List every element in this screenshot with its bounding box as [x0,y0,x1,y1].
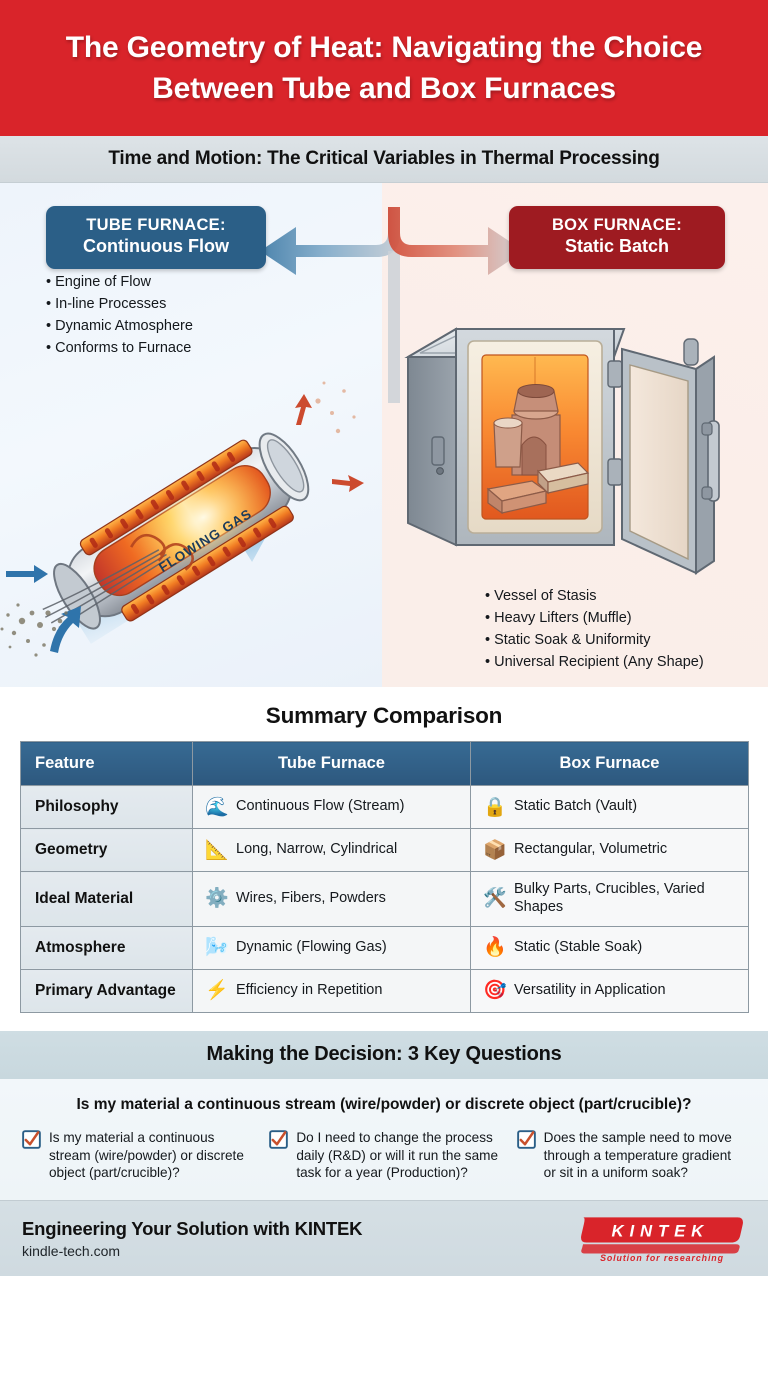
row-box-value: 🔒 Static Batch (Vault) [471,786,749,829]
cell-text: Static Batch (Vault) [514,798,637,816]
powder-particles [1,603,68,656]
decision-lead: Is my material a continuous stream (wire… [22,1096,746,1114]
hero-banner: The Geometry of Heat: Navigating the Cho… [0,0,768,136]
list-item: In-line Processes [46,293,193,315]
list-item: Dynamic Atmosphere [46,315,193,337]
subheader-text: Time and Motion: The Critical Variables … [108,148,659,170]
summary-title: Summary Comparison [20,703,748,729]
row-feature-label: Primary Advantage [21,969,193,1012]
summary-section: Summary Comparison Feature Tube Furnace … [0,687,768,1013]
lock-icon: 🔒 [483,798,505,817]
cell-text: Dynamic (Flowing Gas) [236,939,387,957]
ruler-icon: 📐 [205,841,227,860]
box-furnace-illustration [396,295,744,585]
subheader-band: Time and Motion: The Critical Variables … [0,136,768,183]
cell-text: Efficiency in Repetition [236,982,382,1000]
tube-pill-line1: TUBE FURNACE: [60,216,252,235]
cell-text: Long, Narrow, Cylindrical [236,841,397,859]
row-tube-value: 📐 Long, Narrow, Cylindrical [193,829,471,872]
logo-tagline: Solution for researching [600,1253,724,1263]
tube-furnace-illustration [0,321,382,681]
flowing-gas-label: FLOWING GAS [156,506,254,575]
cell-text: Bulky Parts, Crucibles, Varied Shapes [514,881,738,917]
flowing-gas-arrow [70,488,295,657]
row-tube-value: 🌬️ Dynamic (Flowing Gas) [193,926,471,969]
list-item: Universal Recipient (Any Shape) [485,651,704,673]
decision-question-3: Does the sample need to move through a t… [517,1129,746,1182]
question-text: Does the sample need to move through a t… [544,1129,746,1182]
wave-icon: 🌊 [205,798,227,817]
package-icon: 📦 [483,841,505,860]
decision-band: Making the Decision: 3 Key Questions [0,1031,768,1079]
row-tube-value: ⚡ Efficiency in Repetition [193,969,471,1012]
question-text: Do I need to change the process daily (R… [296,1129,498,1182]
row-box-value: 🛠️ Bulky Parts, Crucibles, Varied Shapes [471,872,749,927]
table-header-row: Feature Tube Furnace Box Furnace [21,742,749,786]
footer-tagline: Engineering Your Solution with KINTEK [22,1218,362,1240]
footer-text-group: Engineering Your Solution with KINTEK ki… [22,1218,362,1259]
column-header-tube: Tube Furnace [193,742,471,786]
wind-icon: 🌬️ [205,938,227,957]
gear-icon: ⚙️ [205,889,227,908]
row-feature-label: Geometry [21,829,193,872]
box-furnace-panel: BOX FURNACE: Static Batch [382,183,768,687]
list-item: Heavy Lifters (Muffle) [485,607,704,629]
logo-wordmark: KINTEK [611,1222,709,1241]
kintek-logo: KINTEK Solution for researching [578,1214,746,1263]
page-title: The Geometry of Heat: Navigating the Cho… [22,27,746,110]
box-pill-line2: Static Batch [523,236,711,257]
decision-question-1: Is my material a continuous stream (wire… [22,1129,251,1182]
list-item: Conforms to Furnace [46,337,193,359]
table-row: Ideal Material ⚙️ Wires, Fibers, Powders… [21,872,749,927]
row-box-value: 🎯 Versatility in Application [471,969,749,1012]
table-row: Atmosphere 🌬️ Dynamic (Flowing Gas) 🔥 St… [21,926,749,969]
cell-text: Static (Stable Soak) [514,939,642,957]
list-item: Vessel of Stasis [485,585,704,607]
list-item: Static Soak & Uniformity [485,629,704,651]
decision-question-2: Do I need to change the process daily (R… [269,1129,498,1182]
target-icon: 🎯 [483,981,505,1000]
row-feature-label: Ideal Material [21,872,193,927]
checkbox-checked-icon[interactable] [22,1130,41,1149]
question-text: Is my material a continuous stream (wire… [49,1129,251,1182]
row-tube-value: ⚙️ Wires, Fibers, Powders [193,872,471,927]
list-item: Engine of Flow [46,271,193,293]
checkbox-checked-icon[interactable] [517,1130,536,1149]
tube-furnace-panel: TUBE FURNACE: Continuous Flow Engine of … [0,183,382,687]
column-header-box: Box Furnace [471,742,749,786]
exhaust-arrows [295,394,364,492]
row-feature-label: Atmosphere [21,926,193,969]
lightning-icon: ⚡ [205,981,227,1000]
table-row: Philosophy 🌊 Continuous Flow (Stream) 🔒 … [21,786,749,829]
box-furnace-label: BOX FURNACE: Static Batch [509,206,725,269]
tools-icon: 🛠️ [483,889,505,908]
cell-text: Continuous Flow (Stream) [236,798,404,816]
comparison-table: Feature Tube Furnace Box Furnace Philoso… [20,741,749,1013]
cell-text: Rectangular, Volumetric [514,841,667,859]
decision-body: Is my material a continuous stream (wire… [0,1079,768,1200]
cell-text: Versatility in Application [514,982,666,1000]
footer-website[interactable]: kindle-tech.com [22,1243,362,1259]
decision-title: Making the Decision: 3 Key Questions [206,1043,561,1066]
gas-inlet-arrows [6,565,81,653]
checkbox-checked-icon[interactable] [269,1130,288,1149]
box-bullet-list: Vessel of Stasis Heavy Lifters (Muffle) … [485,585,704,673]
table-row: Primary Advantage ⚡ Efficiency in Repeti… [21,969,749,1012]
row-box-value: 🔥 Static (Stable Soak) [471,926,749,969]
box-pill-line1: BOX FURNACE: [523,216,711,235]
comparison-panels: TUBE FURNACE: Continuous Flow Engine of … [0,183,768,687]
infographic-page: The Geometry of Heat: Navigating the Cho… [0,0,768,1376]
cell-text: Wires, Fibers, Powders [236,890,386,908]
row-feature-label: Philosophy [21,786,193,829]
tube-pill-line2: Continuous Flow [60,236,252,257]
fire-icon: 🔥 [483,938,505,957]
row-tube-value: 🌊 Continuous Flow (Stream) [193,786,471,829]
furnace-contents [488,385,588,514]
table-row: Geometry 📐 Long, Narrow, Cylindrical 📦 R… [21,829,749,872]
furnace-door [622,339,719,573]
footer-bar: Engineering Your Solution with KINTEK ki… [0,1200,768,1276]
tube-bullet-list: Engine of Flow In-line Processes Dynamic… [46,271,193,359]
tube-furnace-label: TUBE FURNACE: Continuous Flow [46,206,266,269]
row-box-value: 📦 Rectangular, Volumetric [471,829,749,872]
column-header-feature: Feature [21,742,193,786]
